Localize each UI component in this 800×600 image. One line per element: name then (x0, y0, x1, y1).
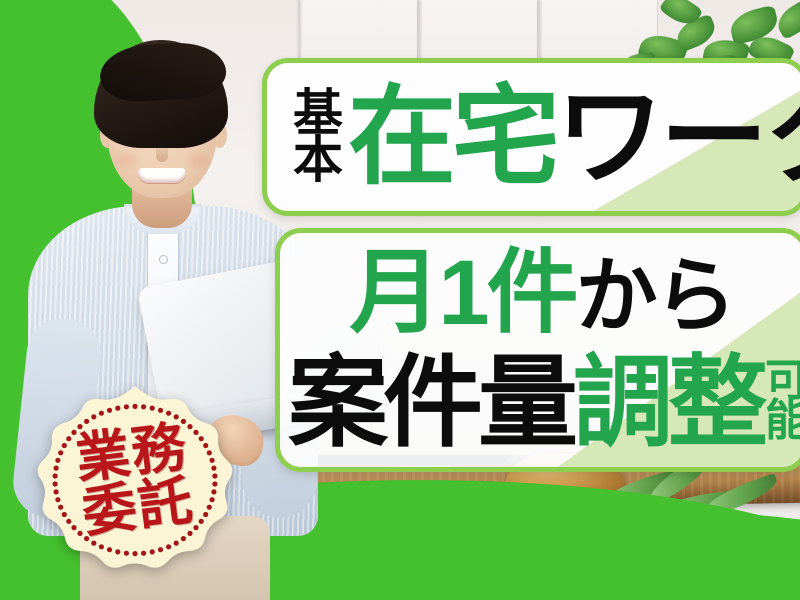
kanou-char-2: 能 (765, 401, 800, 441)
shirt-button (160, 256, 167, 263)
headline-kanou: 可 能 (765, 361, 800, 446)
panel-1-content: 基 本 在宅 ワーク (267, 63, 800, 211)
banner-canvas: 基 本 在宅 ワーク 月1件 から 案件量 調整 可 能 (0, 0, 800, 600)
headline-zaitaku: 在宅 (348, 83, 556, 191)
cheek (116, 154, 136, 166)
cheek (188, 154, 208, 166)
headline-ankenryo: 案件量 (288, 353, 573, 453)
mouth-smile (138, 168, 186, 183)
headline-tsuki-ikken: 月1件 (349, 247, 575, 339)
headline-panel-1: 基 本 在宅 ワーク (262, 58, 800, 216)
hair-fringe (99, 41, 228, 104)
status-badge-gyomu-itaku: 業務 委託 (16, 372, 254, 588)
kihon-char-1: 基 (293, 90, 342, 137)
headline-line-2: 月1件 から (280, 247, 800, 339)
panel-2-content: 月1件 から 案件量 調整 可 能 (280, 233, 800, 467)
headline-line-1: 基 本 在宅 ワーク (293, 83, 800, 191)
headline-chosei: 調整 (573, 353, 763, 453)
headline-kara: から (576, 256, 734, 338)
headline-panel-2: 月1件 から 案件量 調整 可 能 (275, 228, 800, 472)
kanou-char-1: 可 (765, 361, 800, 401)
kihon-char-2: 本 (293, 137, 342, 184)
badge-shape (16, 372, 254, 588)
headline-line-3: 案件量 調整 可 能 (288, 353, 800, 453)
headline-kihon: 基 本 (293, 90, 342, 184)
headline-waaku: ワーク (556, 83, 800, 191)
